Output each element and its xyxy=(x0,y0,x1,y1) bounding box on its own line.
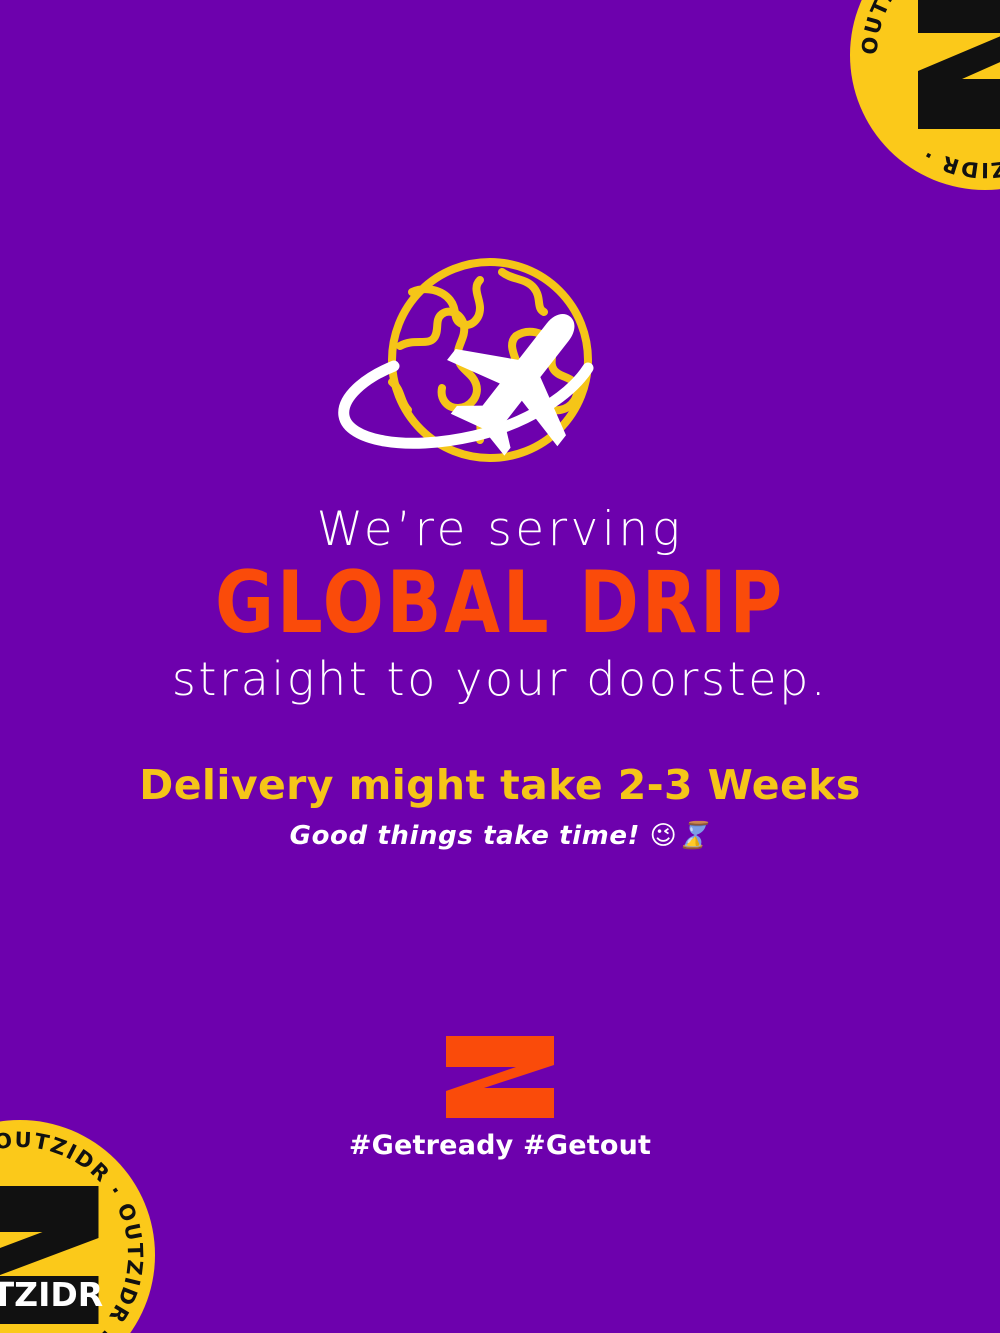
globe-airplane-icon xyxy=(330,250,675,485)
intro-line: We’re serving xyxy=(0,505,1000,554)
outzidr-z-wordmark-lockup: OUTZIDR xyxy=(0,1180,103,1330)
outzidr-z-mark xyxy=(910,0,1000,135)
seal-wordmark-label: OUTZIDR xyxy=(0,1275,103,1314)
delivery-notice: Delivery might take 2-3 Weeks xyxy=(0,763,1000,808)
message-block: We’re serving GLOBAL DRIP straight to yo… xyxy=(0,505,1000,852)
tagline: #Getready #Getout xyxy=(0,1130,1000,1161)
outzidr-seal-top-right: OUTZIDR · OUTZIDR · OUTZIDR · OUTZIDR · xyxy=(850,0,1000,190)
outzidr-z-logo xyxy=(446,1036,554,1118)
poster-canvas: OUTZIDR · OUTZIDR · OUTZIDR · OUTZIDR · … xyxy=(0,0,1000,1333)
subhead-line: straight to your doorstep. xyxy=(0,654,1000,705)
brand-lockup: #Getready #Getout xyxy=(0,1036,1000,1161)
headline: GLOBAL DRIP xyxy=(35,560,965,646)
reassurance-line: Good things take time! 😉⌛ xyxy=(0,821,1000,852)
